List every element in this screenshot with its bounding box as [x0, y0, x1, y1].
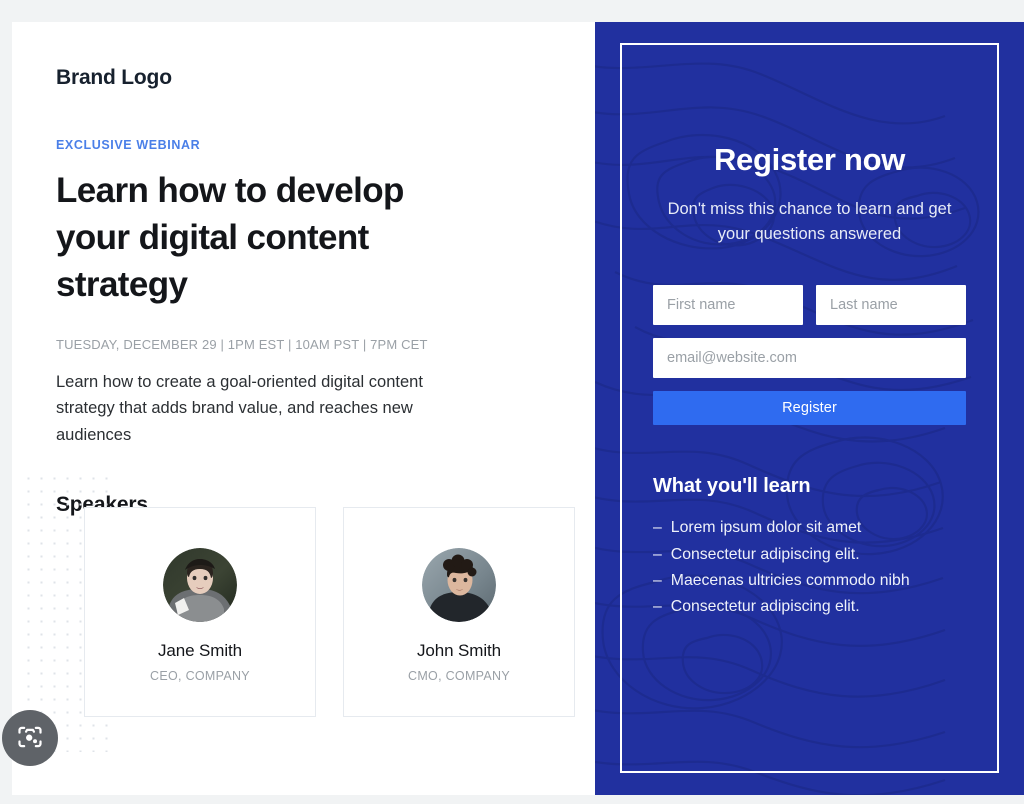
speakers-list: Jane Smith CEO, COMPANY [84, 507, 575, 717]
google-lens-button[interactable] [2, 710, 58, 766]
event-description: Learn how to create a goal-oriented digi… [56, 369, 448, 449]
last-name-input[interactable] [816, 285, 966, 325]
name-fields-row [653, 285, 966, 325]
registration-panel: Register now Don't miss this chance to l… [595, 22, 1024, 795]
list-item: – Maecenas ultricies commodo nibh [653, 568, 966, 594]
bullet-dash: – [653, 568, 662, 594]
first-name-wrap [653, 285, 803, 325]
bullet-dash: – [653, 594, 662, 620]
bullet-dash: – [653, 542, 662, 568]
email-field-wrap [653, 338, 966, 378]
speaker-card: John Smith CMO, COMPANY [343, 507, 575, 717]
registration-content: Register now Don't miss this chance to l… [595, 22, 1024, 620]
speaker-name: John Smith [417, 641, 501, 661]
list-item-label: Lorem ipsum dolor sit amet [671, 515, 862, 541]
what-youll-learn-heading: What you'll learn [653, 475, 966, 498]
register-subtitle: Don't miss this chance to learn and get … [653, 197, 966, 247]
registration-form: Register [653, 285, 966, 425]
speaker-role: CEO, COMPANY [150, 669, 250, 683]
list-item: – Consectetur adipiscing elit. [653, 542, 966, 568]
speaker-name: Jane Smith [158, 641, 242, 661]
speaker-card: Jane Smith CEO, COMPANY [84, 507, 316, 717]
email-input[interactable] [653, 338, 966, 378]
list-item: – Lorem ipsum dolor sit amet [653, 515, 966, 541]
first-name-input[interactable] [653, 285, 803, 325]
register-heading: Register now [653, 142, 966, 178]
speaker-role: CMO, COMPANY [408, 669, 510, 683]
page-title: Learn how to develop your digital conten… [56, 168, 486, 309]
brand-logo: Brand Logo [56, 66, 555, 90]
list-item-label: Maecenas ultricies commodo nibh [671, 568, 910, 594]
eyebrow-label: EXCLUSIVE WEBINAR [56, 138, 555, 152]
bullet-dash: – [653, 515, 662, 541]
avatar [163, 548, 237, 622]
what-youll-learn-list: – Lorem ipsum dolor sit amet – Consectet… [653, 515, 966, 620]
event-datetime: TUESDAY, DECEMBER 29 | 1PM EST | 10AM PS… [56, 337, 555, 352]
register-submit-button[interactable]: Register [653, 391, 966, 425]
landing-page-card: Brand Logo EXCLUSIVE WEBINAR Learn how t… [12, 22, 1024, 795]
list-item: – Consectetur adipiscing elit. [653, 594, 966, 620]
last-name-wrap [816, 285, 966, 325]
list-item-label: Consectetur adipiscing elit. [671, 542, 860, 568]
google-lens-camera-icon [16, 723, 44, 754]
left-content-column: Brand Logo EXCLUSIVE WEBINAR Learn how t… [12, 22, 595, 795]
avatar [422, 548, 496, 622]
list-item-label: Consectetur adipiscing elit. [671, 594, 860, 620]
